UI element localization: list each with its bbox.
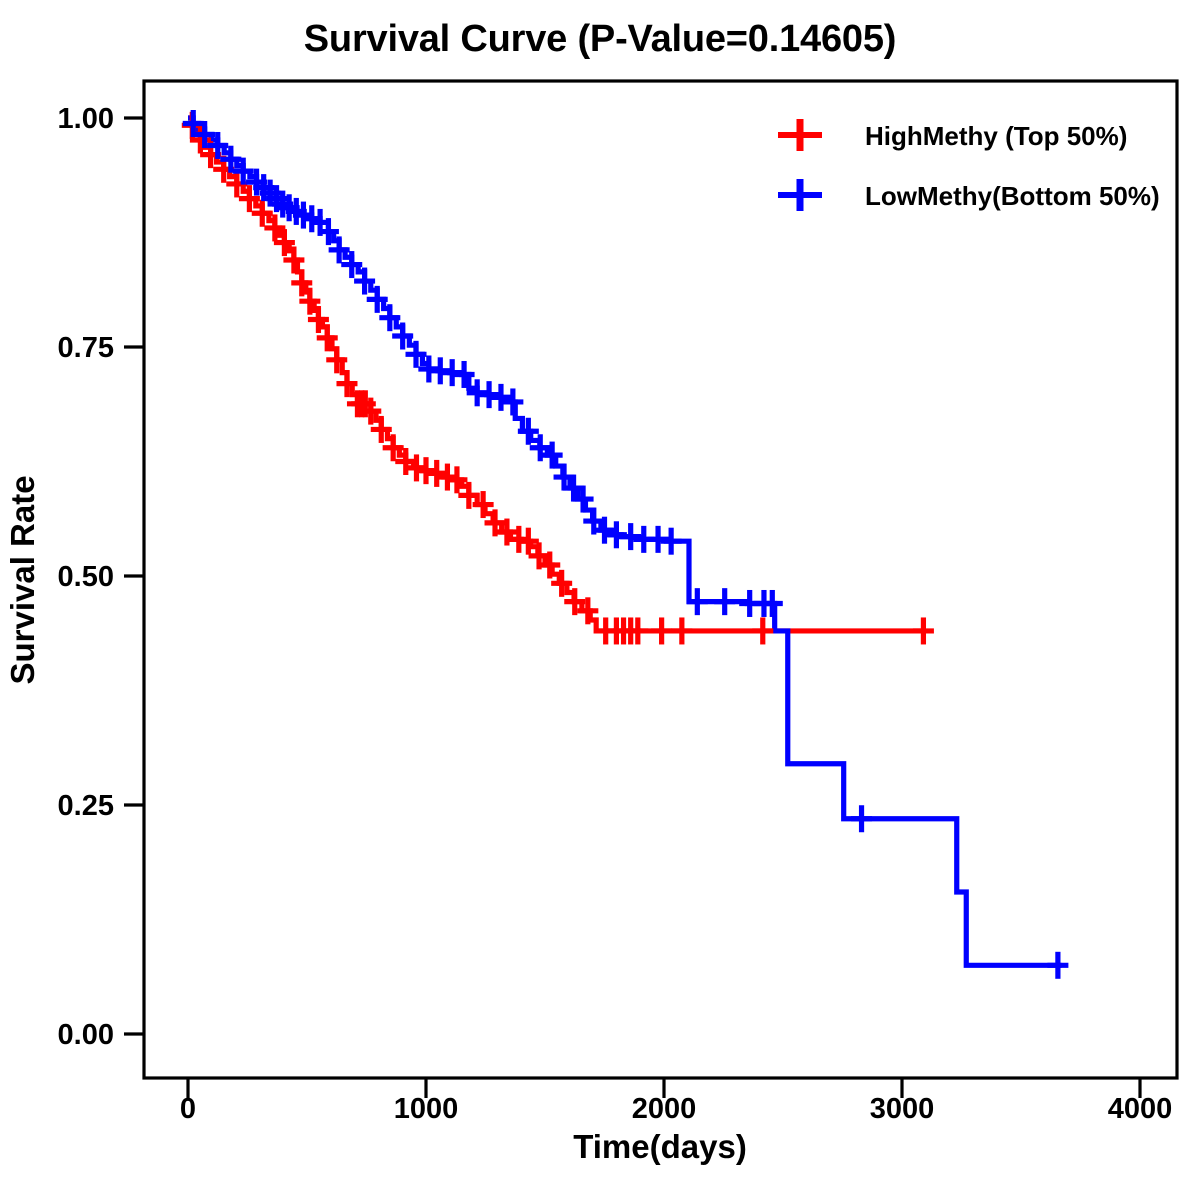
legend: HighMethy (Top 50%)LowMethy(Bottom 50%): [778, 119, 1160, 211]
censoring-marks: [182, 110, 1069, 979]
survival-line-low-methy: [188, 118, 1061, 965]
censor-mark: [752, 617, 773, 644]
legend-item-high-methy[interactable]: HighMethy (Top 50%): [778, 119, 1127, 151]
y-tick-label-0.25: 0.25: [58, 790, 114, 822]
censor-mark: [661, 528, 682, 555]
legend-plus-icon: [778, 179, 822, 211]
censor-mark: [620, 523, 641, 550]
censor-mark: [913, 617, 934, 644]
censor-mark: [671, 617, 692, 644]
x-tick-label-0: 0: [180, 1093, 196, 1125]
y-tick-label-0.50: 0.50: [58, 561, 114, 593]
legend-label: LowMethy(Bottom 50%): [865, 181, 1160, 211]
censor-mark: [490, 384, 511, 411]
x-tick-label-4000: 4000: [1108, 1093, 1173, 1125]
censor-mark: [479, 381, 500, 408]
y-tick-label-0.75: 0.75: [58, 332, 114, 364]
x-tick-label-2000: 2000: [632, 1093, 697, 1125]
censor-mark: [851, 805, 872, 832]
censor-mark: [651, 617, 672, 644]
chart-canvas: 01000200030004000 0.000.250.500.751.00 T…: [0, 0, 1200, 1200]
survival-curve-figure: Survival Curve (P-Value=0.14605) 0100020…: [0, 0, 1200, 1200]
censor-mark: [1047, 952, 1068, 979]
censor-mark: [426, 460, 447, 487]
x-tick-label-3000: 3000: [870, 1093, 935, 1125]
y-tick-label-1.00: 1.00: [58, 103, 114, 135]
legend-plus-icon: [778, 119, 822, 151]
plot-frame: [144, 81, 1177, 1078]
survival-curves: [188, 118, 1061, 965]
legend-label: HighMethy (Top 50%): [865, 121, 1127, 151]
x-tick-label-1000: 1000: [394, 1093, 459, 1125]
x-axis-title: Time(days): [573, 1128, 747, 1165]
y-tick-label-0.00: 0.00: [58, 1019, 114, 1051]
censor-mark: [714, 588, 735, 615]
y-axis-ticks: [124, 118, 143, 1034]
y-axis-title: Survival Rate: [4, 475, 41, 684]
legend-item-low-methy[interactable]: LowMethy(Bottom 50%): [778, 179, 1160, 211]
x-axis-tick-labels: 01000200030004000: [180, 1093, 1172, 1125]
y-axis-tick-labels: 0.000.250.500.751.00: [58, 103, 114, 1051]
censor-mark: [502, 388, 523, 415]
